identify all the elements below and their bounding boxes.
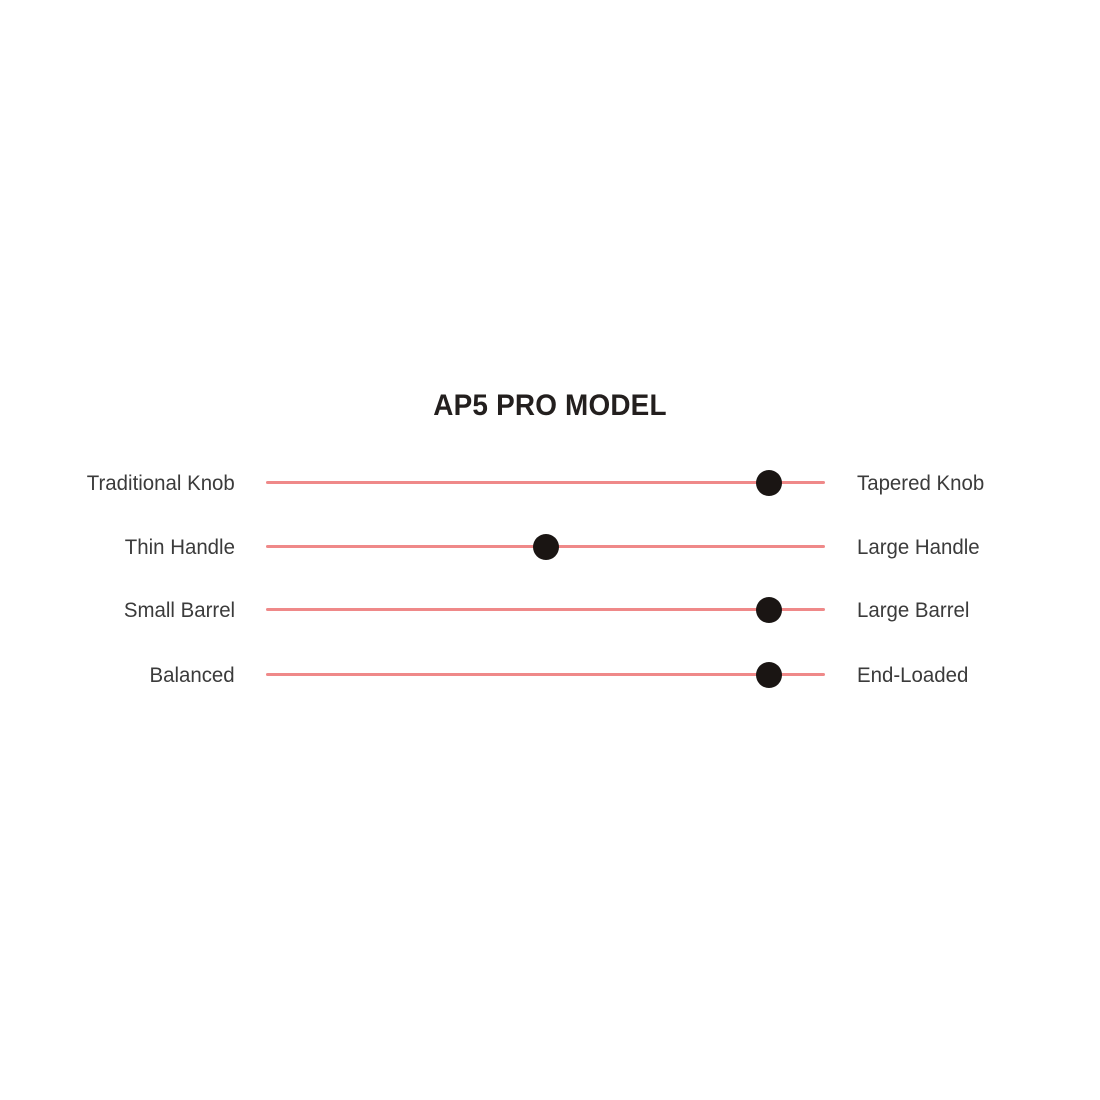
spec-left-label: Balanced: [150, 655, 235, 695]
bat-spec-card: AP5 PRO MODEL Traditional Knob Tapered K…: [0, 0, 1100, 1100]
spec-slider-row[interactable]: Traditional Knob Tapered Knob: [0, 463, 1100, 503]
spec-right-label: Tapered Knob: [857, 463, 984, 503]
spec-right-label: Large Handle: [857, 527, 980, 567]
spec-slider-dot[interactable]: [533, 534, 559, 560]
spec-slider-track[interactable]: [266, 481, 825, 484]
spec-right-label: End-Loaded: [857, 655, 968, 695]
spec-slider-dot[interactable]: [756, 597, 782, 623]
spec-slider-row[interactable]: Small Barrel Large Barrel: [0, 590, 1100, 630]
spec-right-label: Large Barrel: [857, 590, 969, 630]
spec-slider-track[interactable]: [266, 673, 825, 676]
spec-slider-row[interactable]: Thin Handle Large Handle: [0, 527, 1100, 567]
spec-slider-dot[interactable]: [756, 662, 782, 688]
spec-slider-dot[interactable]: [756, 470, 782, 496]
spec-left-label: Thin Handle: [125, 527, 235, 567]
spec-slider-list: Traditional Knob Tapered Knob Thin Handl…: [0, 0, 1100, 1100]
spec-left-label: Small Barrel: [124, 590, 235, 630]
spec-left-label: Traditional Knob: [87, 463, 235, 503]
spec-slider-row[interactable]: Balanced End-Loaded: [0, 655, 1100, 695]
spec-slider-track[interactable]: [266, 608, 825, 611]
